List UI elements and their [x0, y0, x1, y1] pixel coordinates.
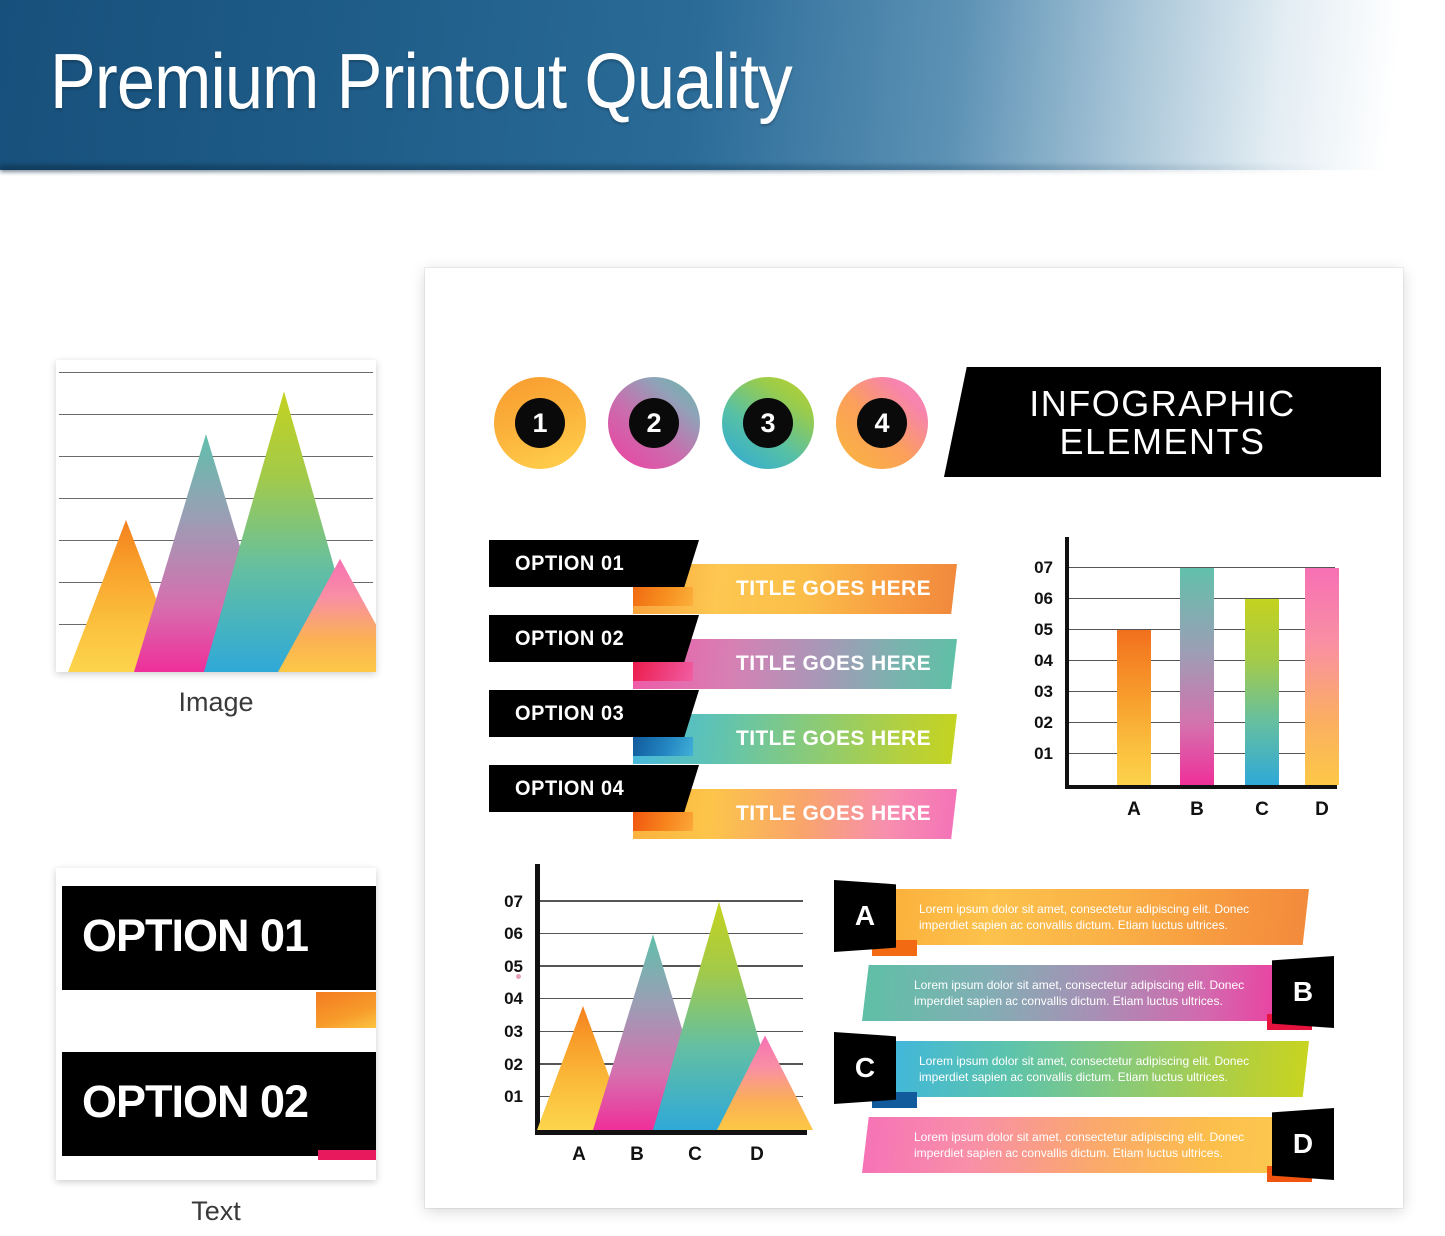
triangle-chart-gridline: [540, 933, 803, 935]
option-row-3[interactable]: TITLE GOES HEREOPTION 03: [489, 690, 989, 764]
triangle-chart-x-tick-B: B: [614, 1144, 660, 1166]
bar-chart-y-tick: 06: [1019, 589, 1053, 609]
bar-chart-plot: [1065, 537, 1335, 785]
image-sample-thumbnail: [56, 360, 376, 672]
circle-step-4[interactable]: 4: [836, 377, 928, 469]
option-3-fold: [633, 737, 693, 756]
lorem-banner-C-label: C: [855, 1052, 875, 1084]
lorem-banner-D[interactable]: Lorem ipsum dolor sit amet, consectetur …: [834, 1108, 1334, 1182]
lorem-banner-D-text: Lorem ipsum dolor sit amet, consectetur …: [862, 1129, 1282, 1161]
lorem-banner-D-tab[interactable]: D: [1272, 1108, 1334, 1180]
lorem-banner-B-ribbon: Lorem ipsum dolor sit amet, consectetur …: [862, 965, 1282, 1021]
circle-step-2-number: 2: [629, 398, 679, 448]
option-4-tag[interactable]: OPTION 04: [489, 765, 699, 812]
text-sample-option-01-bar: OPTION 01: [62, 886, 376, 990]
page-title: Premium Printout Quality: [50, 38, 792, 124]
option-row-2[interactable]: TITLE GOES HEREOPTION 02: [489, 615, 989, 689]
bar-chart-y-tick: 04: [1019, 651, 1053, 671]
infographic-banner-line-2: ELEMENTS: [944, 423, 1381, 461]
option-row-4[interactable]: TITLE GOES HEREOPTION 04: [489, 765, 989, 839]
option-1-title: TITLE GOES HERE: [736, 577, 931, 601]
image-sample-caption: Image: [56, 687, 376, 718]
bar-C: [1245, 599, 1279, 785]
circle-step-4-number: 4: [857, 398, 907, 448]
circle-step-3[interactable]: 3: [722, 377, 814, 469]
bar-chart-x-tick-B: B: [1174, 799, 1220, 821]
infographic-elements-banner: INFOGRAPHIC ELEMENTS: [944, 367, 1381, 477]
triangle-chart-x-tick-A: A: [556, 1144, 602, 1166]
lorem-banner-A[interactable]: Lorem ipsum dolor sit amet, consectetur …: [834, 880, 1334, 954]
option-4-fold: [633, 812, 693, 831]
option-4-tag-label: OPTION 04: [515, 777, 624, 801]
bar-D: [1305, 568, 1339, 785]
triangle-chart-x-tick-D: D: [734, 1144, 780, 1166]
infographic-banner-line-1: INFOGRAPHIC: [944, 385, 1381, 423]
lorem-banner-C-text: Lorem ipsum dolor sit amet, consectetur …: [889, 1053, 1299, 1085]
triangle-chart-y-tick: 04: [489, 989, 523, 1009]
triangle-chart-y-tick: 07: [489, 892, 523, 912]
text-sample-accent-orange: [316, 992, 376, 1028]
option-2-fold: [633, 662, 693, 681]
lorem-banner-A-text: Lorem ipsum dolor sit amet, consectetur …: [889, 901, 1299, 933]
triangle-chart-plot: [535, 882, 803, 1130]
triangle-chart-y-tick: 03: [489, 1022, 523, 1042]
bar-chart-x-tick-D: D: [1299, 799, 1345, 821]
bar-chart-y-tick: 05: [1019, 620, 1053, 640]
lorem-banner-B[interactable]: Lorem ipsum dolor sit amet, consectetur …: [834, 956, 1334, 1030]
triangle-chart-y-tick: 06: [489, 924, 523, 944]
bar-A: [1117, 630, 1151, 785]
option-2-tag[interactable]: OPTION 02: [489, 615, 699, 662]
triangle-chart-y-tick: 01: [489, 1087, 523, 1107]
text-sample-accent-pink: [318, 1150, 376, 1160]
text-sample-thumbnail: OPTION 01 OPTION 02: [56, 868, 376, 1180]
option-3-title: TITLE GOES HERE: [736, 727, 931, 751]
triangle-chart-x-axis: [535, 1130, 807, 1135]
lorem-banner-D-label: D: [1293, 1128, 1313, 1160]
circle-step-3-number: 3: [743, 398, 793, 448]
infographic-panel: 1 2 3 4 INFOGRAPHIC ELEMENTS TITLE GOES …: [425, 268, 1403, 1208]
bar-B: [1180, 568, 1214, 785]
lorem-banner-D-ribbon: Lorem ipsum dolor sit amet, consectetur …: [862, 1117, 1282, 1173]
lorem-banner-B-label: B: [1293, 976, 1313, 1008]
lorem-banner-A-ribbon: Lorem ipsum dolor sit amet, consectetur …: [889, 889, 1309, 945]
lorem-banner-C-ribbon: Lorem ipsum dolor sit amet, consectetur …: [889, 1041, 1309, 1097]
bar-chart-y-tick: 07: [1019, 558, 1053, 578]
bar-chart-x-axis: [1065, 785, 1337, 789]
option-1-fold: [633, 587, 693, 606]
bar-chart-y-tick: 03: [1019, 682, 1053, 702]
circle-step-2[interactable]: 2: [608, 377, 700, 469]
option-row-1[interactable]: TITLE GOES HEREOPTION 01: [489, 540, 989, 614]
triangle-chart: 01020304050607 ABCD: [489, 882, 819, 1182]
bar-chart-x-tick-C: C: [1239, 799, 1285, 821]
triangle-chart-y-tick: 02: [489, 1055, 523, 1075]
bar-chart-y-axis: [1065, 537, 1069, 789]
triangle-chart-gridline: [540, 965, 803, 967]
page-header: Premium Printout Quality: [0, 0, 1445, 170]
bar-chart-y-tick: 02: [1019, 713, 1053, 733]
option-3-tag-label: OPTION 03: [515, 702, 624, 726]
lorem-banner-B-tab[interactable]: B: [1272, 956, 1334, 1028]
lorem-banner-B-text: Lorem ipsum dolor sit amet, consectetur …: [862, 977, 1282, 1009]
option-2-tag-label: OPTION 02: [515, 627, 624, 651]
lorem-banner-A-label: A: [855, 900, 875, 932]
text-sample-option-02-label: OPTION 02: [82, 1076, 308, 1128]
bar-chart-y-tick: 01: [1019, 744, 1053, 764]
header-bottom-edge: [0, 165, 1445, 172]
circle-step-1-number: 1: [515, 398, 565, 448]
lorem-banner-A-tab[interactable]: A: [834, 880, 896, 952]
text-sample-caption: Text: [56, 1196, 376, 1227]
option-1-tag[interactable]: OPTION 01: [489, 540, 699, 587]
option-2-title: TITLE GOES HERE: [736, 652, 931, 676]
bar-chart-x-tick-A: A: [1111, 799, 1157, 821]
option-1-tag-label: OPTION 01: [515, 552, 624, 576]
option-3-tag[interactable]: OPTION 03: [489, 690, 699, 737]
triangle-chart-x-tick-C: C: [672, 1144, 718, 1166]
option-4-title: TITLE GOES HERE: [736, 802, 931, 826]
circle-step-1[interactable]: 1: [494, 377, 586, 469]
lorem-banner-C[interactable]: Lorem ipsum dolor sit amet, consectetur …: [834, 1032, 1334, 1106]
triangle-chart-gridline: [540, 900, 803, 902]
bar-chart: 01020304050607 ABCD: [1019, 537, 1349, 837]
lorem-banner-C-tab[interactable]: C: [834, 1032, 896, 1104]
text-sample-option-02-bar: OPTION 02: [62, 1052, 376, 1156]
text-sample-option-01-label: OPTION 01: [82, 910, 308, 962]
triangle-chart-y-tick: 05: [489, 957, 523, 977]
